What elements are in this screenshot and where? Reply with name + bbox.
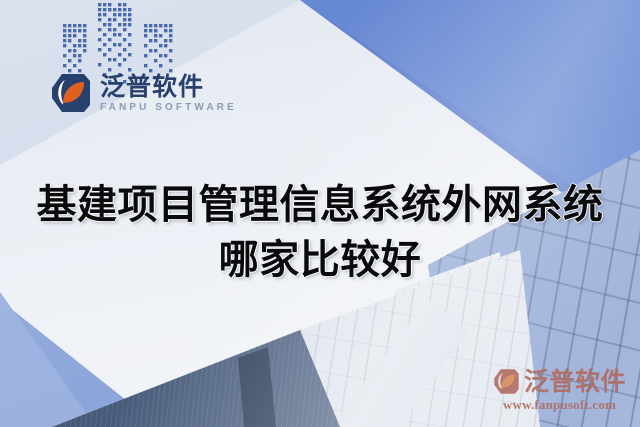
brand-logo: 泛普软件 FANPU SOFTWARE (50, 72, 237, 114)
watermark-url: www.fanpusoft.com (503, 397, 616, 413)
brand-name-cn: 泛普软件 (100, 74, 237, 99)
watermark-row: 泛普软件 (493, 368, 626, 395)
headline-line-2: 哪家比较好 (0, 233, 640, 288)
brand-wordmark: 泛普软件 FANPU SOFTWARE (100, 74, 237, 113)
watermark: 泛普软件 www.fanpusoft.com (493, 368, 626, 413)
watermark-name-cn: 泛普软件 (524, 369, 626, 394)
fanpu-logo-mark-icon (50, 72, 92, 114)
headline-line-1: 基建项目管理信息系统外网系统 (0, 178, 640, 233)
fanpu-watermark-mark-icon (493, 368, 520, 395)
promo-banner: 泛普软件 FANPU SOFTWARE 基建项目管理信息系统外网系统 哪家比较好… (0, 0, 640, 427)
brand-name-en: FANPU SOFTWARE (100, 103, 237, 113)
headline: 基建项目管理信息系统外网系统 哪家比较好 (0, 178, 640, 288)
